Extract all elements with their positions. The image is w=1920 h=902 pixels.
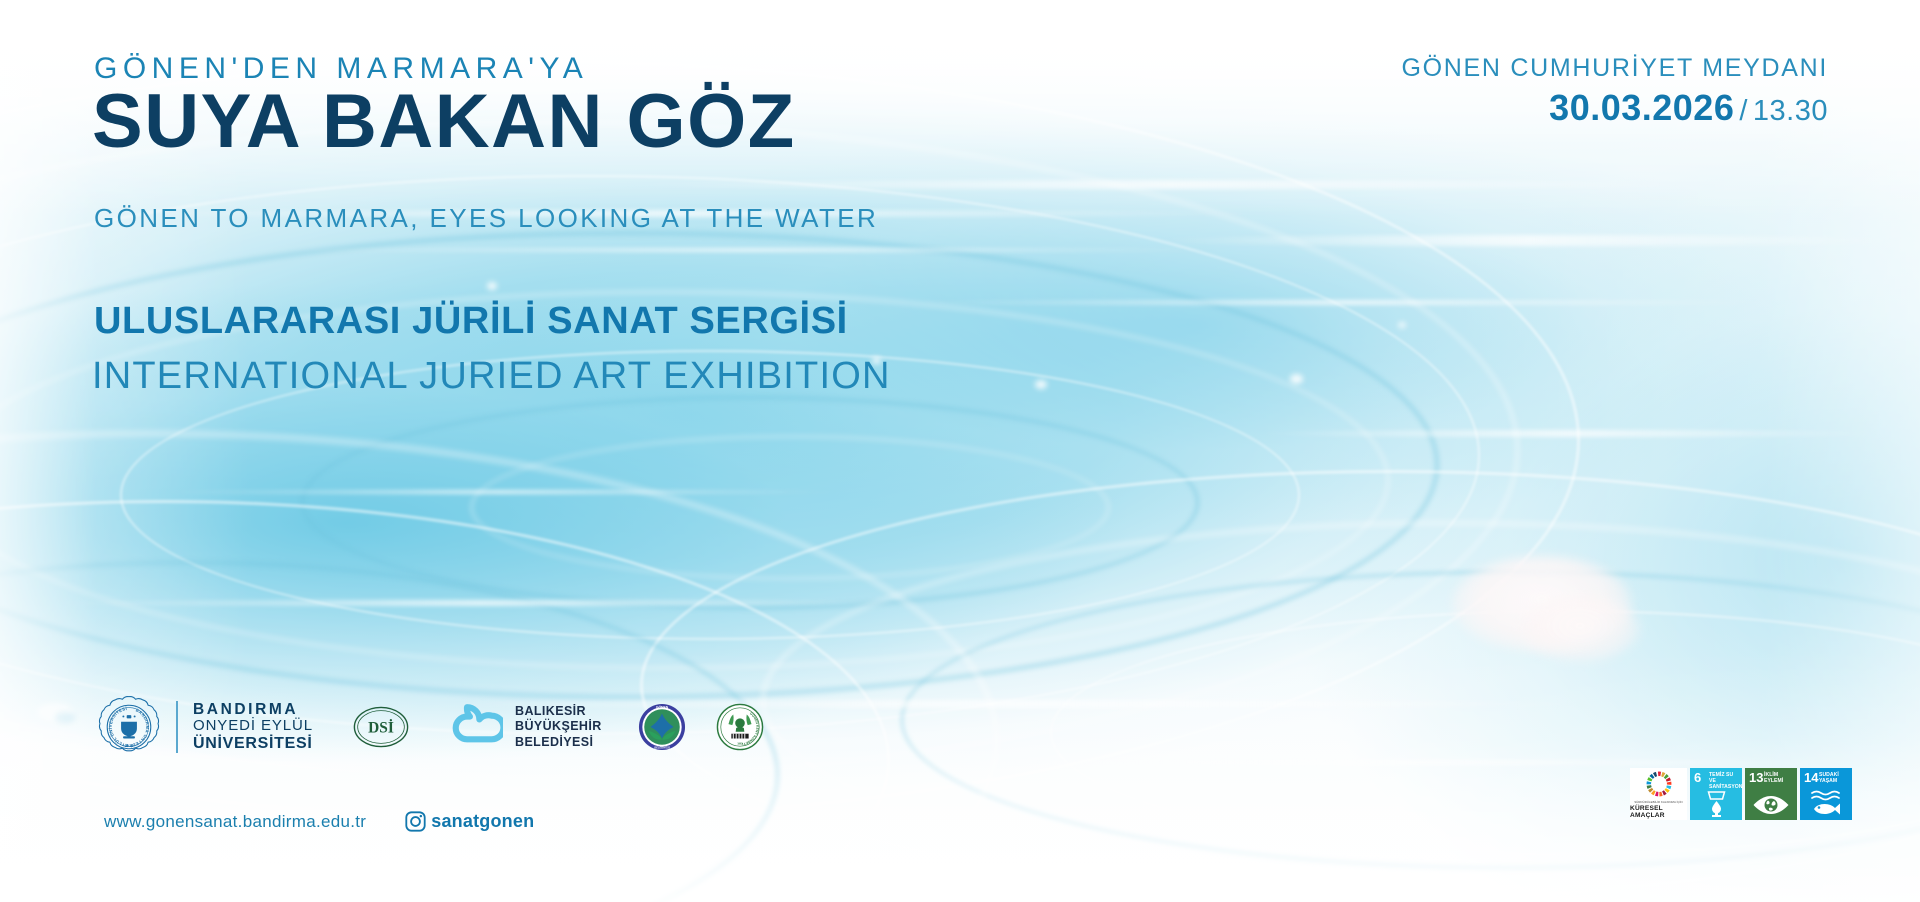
sdg-goal-6-number: 6 <box>1694 771 1701 784</box>
sdg-goal-13-icon <box>1745 793 1797 817</box>
website-link[interactable]: www.gonensanat.bandirma.edu.tr <box>104 812 366 832</box>
svg-text:1963: 1963 <box>737 742 743 745</box>
municipality-wordmark: BALIKESİR BÜYÜKŞEHİR BELEDİYESİ <box>515 704 602 750</box>
municipality-line-3: BELEDİYESİ <box>515 735 602 750</box>
event-date: 30.03.2026 <box>1549 87 1734 128</box>
subtitle-english: GÖNEN TO MARMARA, EYES LOOKING AT THE WA… <box>94 203 878 234</box>
gonen-seal-label: BELEDİYESİ <box>654 746 670 750</box>
logo-dsi: DSİ <box>353 705 409 749</box>
municipality-mark-icon <box>451 703 503 751</box>
sdg-goal-14-icon <box>1800 789 1852 817</box>
logo-gonen-municipality: GÖNEN BELEDİYESİ <box>638 703 686 751</box>
exhibition-title-turkish: ULUSLARARASI JÜRİLİ SANAT SERGİSİ <box>94 300 848 343</box>
sdg-goal-14-label: SUDAKİ YAŞAM <box>1819 772 1850 784</box>
sdg-wheel-icon <box>1644 769 1674 799</box>
svg-text:2015: 2015 <box>125 743 135 748</box>
municipality-line-2: BÜYÜKŞEHİR <box>515 719 602 734</box>
sdg-goal-14-badge: 14 SUDAKİ YAŞAM <box>1800 768 1852 820</box>
instagram-handle: sanatgonen <box>431 811 534 832</box>
university-line-3: ÜNİVERSİTESİ <box>193 735 313 753</box>
page-title: SUYA BAKAN GÖZ <box>92 82 796 162</box>
instagram-icon <box>404 810 427 833</box>
svg-text:GÖNEN: GÖNEN <box>656 704 669 709</box>
sdg-badges: SÜRDÜRÜLEBİLİR KALKINMA İÇİN KÜRESEL AMA… <box>1630 768 1852 820</box>
poster-canvas: GÖNEN'DEN MARMARA'YA SUYA BAKAN GÖZ GÖNE… <box>0 0 1920 902</box>
sdg-goal-13-label: İKLİM EYLEMİ <box>1764 772 1795 784</box>
exhibition-title-english: INTERNATIONAL JURIED ART EXHIBITION <box>92 355 891 398</box>
sdg-goal-6-label: TEMİZ SU VE SANİTASYON <box>1709 772 1740 791</box>
sdg-goal-6-badge: 6 TEMİZ SU VE SANİTASYON <box>1690 768 1742 820</box>
event-time-separator: / <box>1739 95 1748 127</box>
university-line-1: BANDIRMA <box>193 701 313 718</box>
university-seal-icon: BANDIRMA ONYEDİ EYLÜL ÜNİVERSİTESİ 2015 <box>96 694 162 760</box>
university-wordmark: BANDIRMA ONYEDİ EYLÜL ÜNİVERSİTESİ <box>176 701 313 753</box>
logo-green-seal: GÖNEN KENT KONSEYİ 1963 <box>716 703 764 751</box>
sdg-global-goals-badge: SÜRDÜRÜLEBİLİR KALKINMA İÇİN KÜRESEL AMA… <box>1630 768 1687 820</box>
sdg-goal-13-badge: 13 İKLİM EYLEMİ <box>1745 768 1797 820</box>
sdg-global-caption-top: SÜRDÜRÜLEBİLİR KALKINMA İÇİN <box>1634 800 1682 804</box>
instagram-link[interactable]: sanatgonen <box>404 810 534 833</box>
sdg-goal-13-number: 13 <box>1749 771 1763 784</box>
sdg-goal-6-icon <box>1690 790 1742 817</box>
sdg-global-caption-main: KÜRESEL AMAÇLAR <box>1630 805 1687 819</box>
event-datetime: 30.03.2026/13.30 <box>1402 87 1828 129</box>
event-details: GÖNEN CUMHURİYET MEYDANI 30.03.2026/13.3… <box>1402 54 1828 129</box>
venue-name: GÖNEN CUMHURİYET MEYDANI <box>1402 54 1828 83</box>
sponsor-logos: BANDIRMA ONYEDİ EYLÜL ÜNİVERSİTESİ 2015 … <box>96 694 764 760</box>
dsi-label: DSİ <box>368 720 394 737</box>
university-line-2: ONYEDİ EYLÜL <box>193 718 313 735</box>
sdg-goal-14-number: 14 <box>1804 771 1818 784</box>
logo-balikesir-municipality: BALIKESİR BÜYÜKŞEHİR BELEDİYESİ <box>409 703 602 751</box>
event-time: 13.30 <box>1753 95 1828 127</box>
logo-bandirma-university: BANDIRMA ONYEDİ EYLÜL ÜNİVERSİTESİ 2015 … <box>96 694 313 760</box>
municipality-line-1: BALIKESİR <box>515 704 602 719</box>
contact-links: www.gonensanat.bandirma.edu.tr sanatgone… <box>104 810 534 833</box>
